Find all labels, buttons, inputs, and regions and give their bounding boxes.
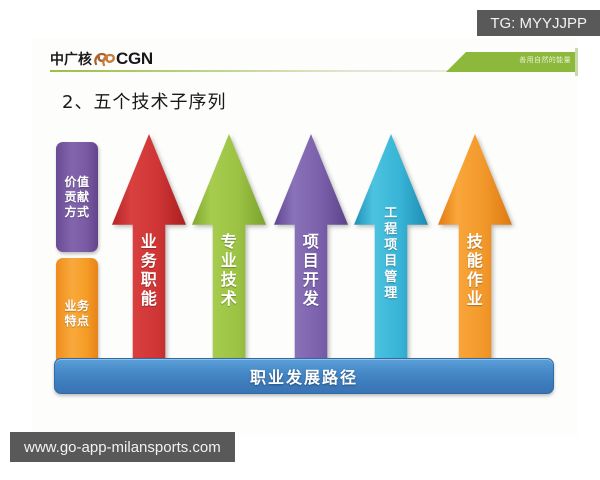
banner-tail — [575, 48, 578, 76]
arrow-project-development[interactable]: 项目开发 — [274, 134, 348, 386]
cgn-logo: 中广核 CGN — [50, 49, 153, 69]
career-path-base-bar[interactable]: 职业发展路径 — [54, 358, 554, 394]
career-path-base-bar-label: 职业发展路径 — [250, 364, 358, 388]
block-value-contribution[interactable]: 价值贡献方式 — [56, 142, 98, 252]
arrow-project-development-label: 项目开发 — [301, 232, 321, 308]
logo-english-text: CGN — [116, 49, 153, 69]
block-value-contribution-label: 价值贡献方式 — [64, 175, 89, 220]
dimension-stack: 价值贡献方式 业务特点 — [56, 142, 98, 370]
url-watermark: www.go-app-milansports.com — [10, 432, 235, 462]
arrow-business-function[interactable]: 业务职能 — [112, 134, 186, 386]
slide-header: 中广核 CGN 善用自然的能量 — [32, 38, 578, 80]
block-business-feature-label: 业务特点 — [64, 299, 89, 329]
screenshot-root: 中广核 CGN 善用自然的能量 2、五个技术子序列 价值贡献方式 — [0, 0, 600, 480]
presentation-slide: 中广核 CGN 善用自然的能量 2、五个技术子序列 价值贡献方式 — [32, 38, 578, 436]
arrow-engineering-project-management[interactable]: 工程项目管理 — [354, 134, 428, 386]
arrow-professional-technology[interactable]: 专业技术 — [192, 134, 266, 386]
logo-chinese-text: 中广核 — [50, 49, 92, 69]
telegram-watermark: TG: MYYJJPP — [477, 10, 600, 36]
arrow-business-function-label: 业务职能 — [139, 232, 159, 308]
block-business-feature[interactable]: 业务特点 — [56, 258, 98, 370]
cgn-swirl-icon — [93, 51, 115, 68]
arrow-professional-technology-label: 专业技术 — [219, 232, 239, 308]
arrow-skilled-operation[interactable]: 技能作业 — [438, 134, 512, 386]
page-title: 2、五个技术子序列 — [62, 88, 226, 114]
slogan-text: 善用自然的能量 — [519, 55, 571, 65]
arrow-skilled-operation-label: 技能作业 — [465, 232, 485, 308]
career-path-diagram: 价值贡献方式 业务特点 业务职能 专业技术 项目开发 工程项目管理 — [32, 134, 578, 404]
arrow-engineering-project-management-label: 工程项目管理 — [381, 206, 401, 302]
